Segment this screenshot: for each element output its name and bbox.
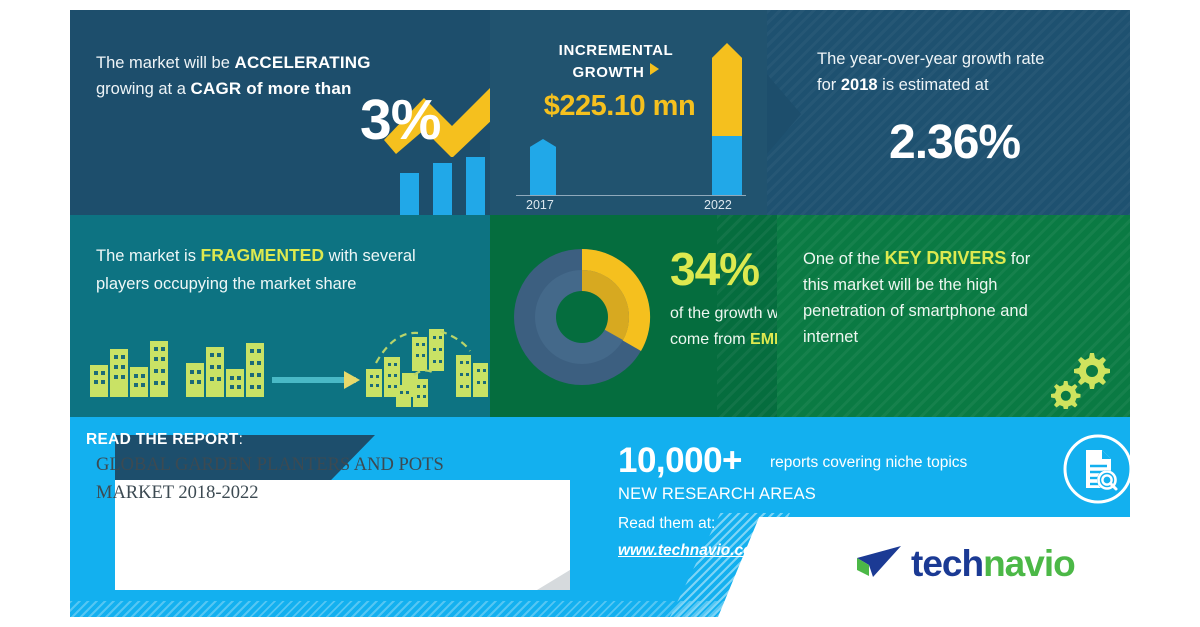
row-footer: READ THE REPORT: GLOBAL GARDEN PLANTERS … [70, 417, 1130, 617]
fragmented-text-lead: The market is [96, 247, 201, 265]
incremental-axis-line [516, 195, 746, 196]
cagr-text-lead: The market will be [96, 54, 234, 72]
report-title-line1: GLOBAL GARDEN PLANTERS AND POTS [96, 455, 444, 475]
play-triangle-icon [650, 63, 659, 75]
fragmented-text-keyword: FRAGMENTED [201, 245, 324, 265]
footer-stripe-band [70, 601, 1130, 617]
cagr-text-tail: of more than [241, 79, 351, 98]
panel-region-share: 34% of the growth will come from EMEA [490, 215, 777, 417]
fragmented-text: The market is FRAGMENTED with several pl… [96, 241, 486, 298]
bar-1 [400, 173, 419, 215]
city-fragmentation-diagram [84, 327, 490, 407]
region-caption-line1: of the growth will [670, 305, 789, 322]
flow-line [272, 377, 356, 383]
read-the-report-colon: : [239, 431, 244, 448]
logo-text-tech: tech [911, 543, 983, 584]
yoy-text-mid: for [817, 76, 841, 94]
read-the-report-text: READ THE REPORT [86, 431, 239, 448]
drivers-text-line2: this market will be the high [803, 276, 997, 294]
yoy-text-lead: The year-over-year growth rate [817, 50, 1044, 68]
row-top: The market will be ACCELERATING growing … [70, 10, 1130, 215]
panel-incremental-growth: INCREMENTAL GROWTH $225.10 mn 2017 2022 [490, 10, 767, 215]
key-drivers-text: One of the KEY DRIVERS for this market w… [803, 245, 1103, 350]
yoy-value-group: 2.36% [871, 115, 1020, 170]
report-title-line2: MARKET 2018-2022 [96, 483, 259, 503]
logo-text-navio: navio [983, 543, 1075, 584]
yoy-value: 2.36% [889, 115, 1020, 170]
column-2022 [712, 43, 742, 195]
document-search-icon [1062, 433, 1130, 505]
panel-yoy-growth: The year-over-year growth rate for 2018 … [767, 10, 1130, 215]
cagr-text-mid: growing at a [96, 80, 190, 98]
panel-fragmented: The market is FRAGMENTED with several pl… [70, 215, 490, 417]
technavio-logo: technavio [855, 543, 1075, 583]
column-2017 [530, 139, 556, 195]
axis-label-2022: 2022 [704, 198, 732, 212]
technavio-wordmark: technavio [911, 545, 1075, 582]
incremental-growth-value: $225.10 mn [512, 90, 727, 123]
new-research-areas-label: NEW RESEARCH AREAS [618, 485, 816, 504]
diagonal-stripe-texture [767, 10, 1130, 215]
region-caption-line2-lead: come from [670, 331, 750, 348]
building-cluster-right [366, 329, 488, 407]
region-share-value: 34% [670, 245, 759, 293]
fragmented-text-tail: players occupying the market share [96, 275, 356, 293]
drivers-text-lead: One of the [803, 250, 885, 268]
axis-label-2017: 2017 [526, 198, 554, 212]
donut-hole [556, 291, 608, 343]
cagr-text-cagr: CAGR [190, 79, 241, 98]
reports-count-caption: reports covering niche topics [770, 454, 967, 472]
panel-key-drivers: One of the KEY DRIVERS for this market w… [777, 215, 1130, 417]
flow-arrow-icon [344, 371, 360, 389]
row-middle: The market is FRAGMENTED with several pl… [70, 215, 1130, 417]
yoy-text: The year-over-year growth rate for 2018 … [817, 46, 1117, 98]
cagr-text-accelerating: ACCELERATING [234, 53, 370, 72]
column-2022-base-segment [712, 136, 742, 195]
incremental-title-line1: INCREMENTAL [559, 42, 674, 59]
incremental-growth-title: INCREMENTAL GROWTH [526, 40, 706, 84]
bar-2 [433, 163, 452, 215]
infographic-frame: The market will be ACCELERATING growing … [70, 10, 1130, 617]
cagr-value: 3% [360, 92, 440, 149]
bar-3 [466, 157, 485, 215]
read-them-at-label: Read them at: [618, 515, 715, 533]
gears-icon [1044, 349, 1114, 409]
fragmented-text-mid: with several [324, 247, 416, 265]
report-title: GLOBAL GARDEN PLANTERS AND POTS MARKET 2… [96, 451, 506, 507]
drivers-text-tail: for [1006, 250, 1030, 268]
region-donut-chart [508, 243, 656, 391]
read-the-report-label: READ THE REPORT: [86, 431, 243, 449]
drivers-text-line4: internet [803, 328, 858, 346]
infographic-canvas: The market will be ACCELERATING growing … [0, 0, 1200, 627]
reports-count: 10,000+ [618, 441, 742, 481]
drivers-text-keyword: KEY DRIVERS [885, 248, 1007, 268]
panel-cagr: The market will be ACCELERATING growing … [70, 10, 490, 215]
column-2022-growth-segment [712, 43, 742, 136]
drivers-text-line3: penetration of smartphone and [803, 302, 1028, 320]
yoy-text-year: 2018 [841, 76, 878, 94]
technavio-mark-icon [855, 543, 903, 583]
yoy-text-tail: is estimated at [878, 76, 989, 94]
incremental-title-line2: GROWTH [573, 64, 645, 81]
